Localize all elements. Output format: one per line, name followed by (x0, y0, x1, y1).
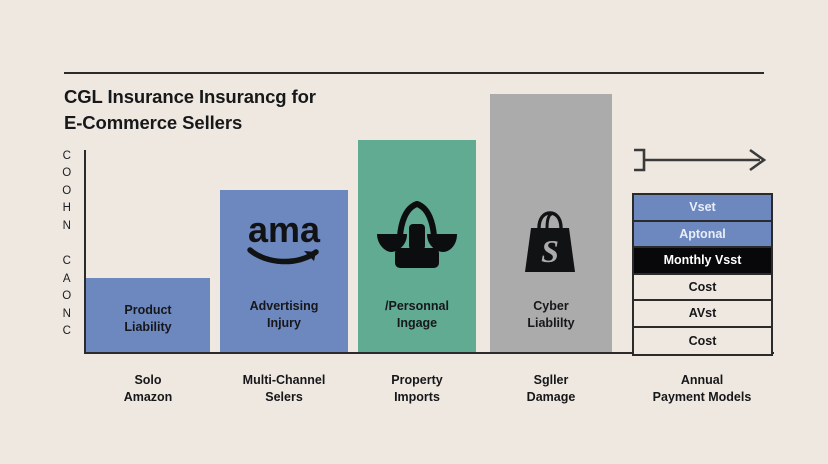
page-title-line-2: E-Commerce Sellers (64, 110, 484, 136)
bar-caption-line-2: Injury (220, 315, 348, 332)
bar-caption-line-2: Liability (86, 319, 210, 336)
y-axis-label-top-c5: N (62, 218, 71, 235)
annual-payment-models-table[interactable]: Vset Aptonal Monthly Vsst Cost AVst Cost (632, 193, 773, 356)
table-row[interactable]: AVst (634, 301, 771, 328)
shopify-bag-icon: S (490, 210, 612, 276)
bar-property-imports-inner: /Personnal Ingage (358, 140, 476, 352)
xtick-solo-amazon: Solo Amazon (86, 372, 210, 407)
y-axis-label-bottom: C A O N C (62, 253, 71, 340)
xtick-line-1: Property (358, 372, 476, 389)
table-row[interactable]: Vset (634, 195, 771, 222)
xtick-property-imports: Property Imports (358, 372, 476, 407)
bar-property-imports[interactable]: /Personnal Ingage (358, 140, 476, 352)
xtick-line-1: Annual (622, 372, 782, 389)
table-row[interactable]: Monthly Vsst (634, 248, 771, 275)
bar-caption-line-1: Cyber (490, 298, 612, 315)
header-divider-rule (64, 72, 764, 74)
table-row[interactable]: Cost (634, 328, 771, 355)
y-axis-label-top-c1: C (62, 148, 71, 165)
page-title: CGL Insurance Insurancg for E-Commerce S… (64, 84, 484, 135)
y-axis-label-top-c4: H (62, 200, 71, 217)
bar-caption-line-1: Advertising (220, 298, 348, 315)
y-axis-label-top: C O O H N (62, 148, 71, 235)
xtick-line-1: Sgller (490, 372, 612, 389)
xtick-line-2: Selers (212, 389, 356, 406)
amazon-smile-icon: ama (220, 204, 348, 270)
bar-seller-damage-caption: Cyber Liablilty (490, 298, 612, 332)
svg-text:ama: ama (248, 209, 321, 250)
bar-caption-line-2: Ingage (358, 315, 476, 332)
bar-solo-amazon-caption: Product Liability (86, 302, 210, 336)
bar-solo-amazon[interactable]: Product Liability (86, 278, 210, 352)
bar-property-imports-caption: /Personnal Ingage (358, 298, 476, 332)
y-axis-label-bottom-c1: C (62, 253, 71, 270)
xtick-line-1: Multi-Channel (212, 372, 356, 389)
bar-seller-damage[interactable]: S Cyber Liablilty (490, 94, 612, 352)
y-axis-label-bottom-c3: O (62, 288, 71, 305)
bar-caption-line-1: Product (86, 302, 210, 319)
xtick-line-1: Solo (86, 372, 210, 389)
infographic-canvas: CGL Insurance Insurancg for E-Commerce S… (0, 0, 828, 464)
y-axis-label-bottom-c5: C (62, 323, 71, 340)
bar-caption-line-1: /Personnal (358, 298, 476, 315)
bar-seller-damage-inner: S Cyber Liablilty (490, 94, 612, 352)
table-row[interactable]: Aptonal (634, 222, 771, 249)
svg-text:S: S (541, 233, 559, 269)
bar-caption-line-2: Liablilty (490, 315, 612, 332)
xtick-line-2: Imports (358, 389, 476, 406)
bar-multi-channel-caption: Advertising Injury (220, 298, 348, 332)
growth-arrow-icon (630, 144, 770, 174)
bar-multi-channel-inner: ama Advertising Injury (220, 190, 348, 352)
xtick-seller-damage: Sgller Damage (490, 372, 612, 407)
xtick-annual-payment-models: Annual Payment Models (622, 372, 782, 407)
y-axis-label-group: C O O H N C A O N C (56, 148, 78, 341)
xtick-multi-channel-sellers: Multi-Channel Selers (212, 372, 356, 407)
y-axis-label-top-c3: O (62, 183, 71, 200)
xtick-line-2: Amazon (86, 389, 210, 406)
bar-solo-amazon-inner: Product Liability (86, 278, 210, 352)
y-axis-label-top-c2: O (62, 165, 71, 182)
xtick-line-2: Damage (490, 389, 612, 406)
y-axis-label-bottom-c4: N (62, 306, 71, 323)
xtick-line-2: Payment Models (622, 389, 782, 406)
balance-scale-icon (358, 198, 476, 270)
page-title-line-1: CGL Insurance Insurancg for (64, 84, 484, 110)
y-axis-label-bottom-c2: A (62, 271, 71, 288)
table-row[interactable]: Cost (634, 275, 771, 302)
bar-multi-channel-sellers[interactable]: ama Advertising Injury (220, 190, 348, 352)
